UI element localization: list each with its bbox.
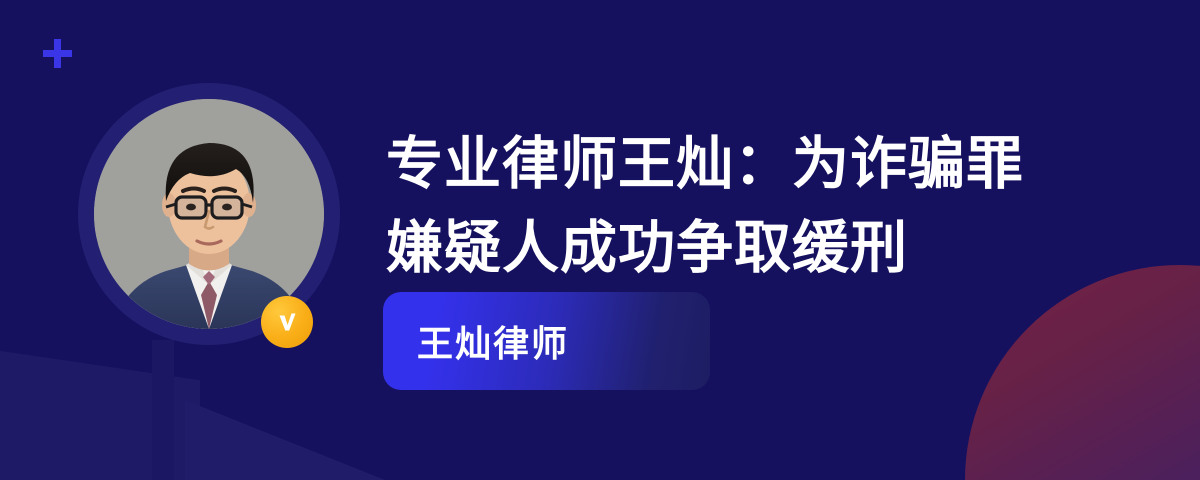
plus-icon: [43, 39, 72, 68]
lawyer-name-chip[interactable]: 王灿律师: [383, 292, 710, 390]
verified-badge: [261, 296, 313, 348]
avatar: [78, 83, 340, 345]
promo-banner: 专业律师王灿：为诈骗罪 嫌疑人成功争取缓刑 王灿律师: [0, 0, 1200, 480]
plus-icon-vertical-bar: [54, 39, 61, 68]
bottom-center-triangle-shape: [185, 400, 435, 480]
avatar-photo: [94, 99, 324, 329]
violet-wedge-shape: [1055, 350, 1200, 480]
lawyer-name-chip-label: 王灿律师: [417, 315, 569, 367]
crimson-glow-circle: [965, 265, 1200, 480]
page-title: 专业律师王灿：为诈骗罪 嫌疑人成功争取缓刑: [386, 122, 1086, 290]
bottom-left-panel-shape: [0, 345, 200, 480]
vertical-accent-column: [152, 340, 174, 480]
